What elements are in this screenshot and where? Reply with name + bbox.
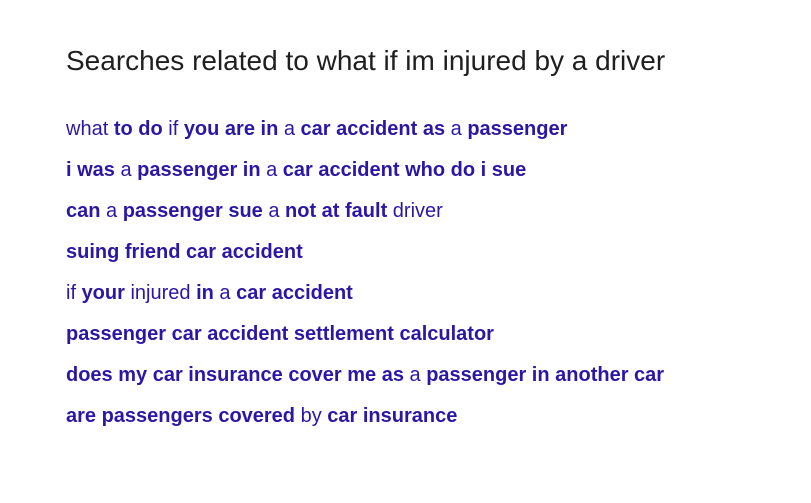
query-term-plain: a [268,200,285,222]
related-search-item[interactable]: can a passenger sue a not at fault drive… [66,190,786,231]
related-search-link[interactable]: can a passenger sue a not at fault drive… [66,199,443,223]
related-searches-heading: Searches related to what if im injured b… [66,44,786,78]
related-searches-list: what to do if you are in a car accident … [66,108,786,436]
query-term-bold: are passengers covered [66,405,301,427]
query-term-bold: not at fault [285,200,393,222]
query-term-bold: you are in [184,118,284,140]
query-term-bold: car insurance [327,405,457,427]
query-term-bold: car accident as [301,118,451,140]
query-term-plain: a [284,118,301,140]
query-term-bold: car accident [236,282,353,304]
query-term-bold: does my car insurance cover me as [66,364,410,386]
query-term-plain: driver [393,200,443,222]
related-search-item[interactable]: are passengers covered by car insurance [66,395,786,436]
query-term-plain: a [219,282,236,304]
related-search-item[interactable]: i was a passenger in a car accident who … [66,149,786,190]
page-root: Searches related to what if im injured b… [0,0,811,503]
related-search-link[interactable]: are passengers covered by car insurance [66,404,457,428]
related-search-item[interactable]: passenger car accident settlement calcul… [66,313,786,354]
query-term-bold: car accident who do i sue [283,159,526,181]
query-term-plain: a [410,364,427,386]
related-search-link[interactable]: what to do if you are in a car accident … [66,117,567,141]
query-term-plain: if [66,282,82,304]
query-term-plain: by [301,405,328,427]
query-term-plain: what [66,118,114,140]
related-search-item[interactable]: suing friend car accident [66,231,786,272]
query-term-bold: passenger car accident settlement calcul… [66,323,494,345]
query-term-bold: in [196,282,219,304]
related-search-link[interactable]: passenger car accident settlement calcul… [66,322,494,346]
related-searches-block: Searches related to what if im injured b… [66,44,786,436]
query-term-bold: i was [66,159,120,181]
query-term-plain: injured [130,282,196,304]
query-term-bold: passenger sue [123,200,269,222]
query-term-bold: your [82,282,131,304]
query-term-plain: a [106,200,123,222]
query-term-plain: a [266,159,283,181]
related-search-link[interactable]: does my car insurance cover me as a pass… [66,363,664,387]
query-term-bold: passenger in another car [426,364,664,386]
related-search-link[interactable]: if your injured in a car accident [66,281,353,305]
query-term-plain: a [120,159,137,181]
related-search-link[interactable]: i was a passenger in a car accident who … [66,158,526,182]
query-term-plain: a [451,118,468,140]
related-search-item[interactable]: if your injured in a car accident [66,272,786,313]
query-term-bold: to do [114,118,168,140]
related-search-item[interactable]: what to do if you are in a car accident … [66,108,786,149]
related-search-link[interactable]: suing friend car accident [66,240,303,264]
related-search-item[interactable]: does my car insurance cover me as a pass… [66,354,786,395]
query-term-bold: suing friend car accident [66,241,303,263]
query-term-bold: passenger in [137,159,266,181]
query-term-bold: passenger [467,118,567,140]
query-term-bold: can [66,200,106,222]
query-term-plain: if [168,118,184,140]
